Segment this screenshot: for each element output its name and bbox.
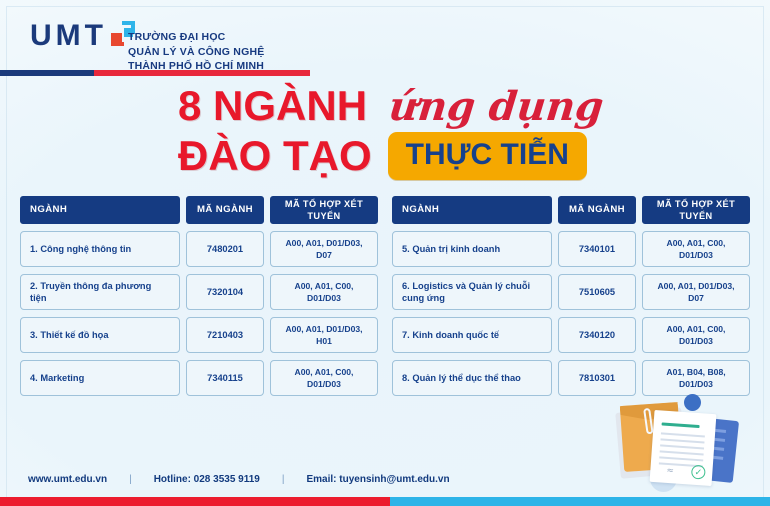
blue-dot-icon [684,394,701,411]
headline-block: 8 NGÀNH ứng dụng ĐÀO TẠO THỰC TIỄN [0,84,770,184]
table-header-row-right: NGÀNH MÃ NGÀNH MÃ TỔ HỢP XÉT TUYỂN [392,196,750,224]
footer-bar-red [0,497,390,506]
major-name: 2. Truyền thông đa phương tiện [20,274,180,310]
major-code: 7810301 [558,360,636,396]
university-line-2: QUẢN LÝ VÀ CÔNG NGHỆ [128,45,264,60]
major-code: 7480201 [186,231,264,267]
major-name: 5. Quản trị kinh doanh [392,231,552,267]
logo: UMT [30,20,135,52]
major-combos: A00, A01, C00, D01/D03 [642,231,750,267]
table-row: 8. Quản lý thể dục thể thao 7810301 A01,… [392,360,750,396]
major-name: 4. Marketing [20,360,180,396]
column-header-nganh: NGÀNH [392,196,552,224]
column-header-ma-to-hop: MÃ TỔ HỢP XÉT TUYỂN [270,196,378,224]
headline-main-2: ĐÀO TẠO [178,134,372,178]
major-code: 7340115 [186,360,264,396]
headline-badge: THỰC TIỄN [388,132,587,180]
major-code: 7320104 [186,274,264,310]
majors-tables: NGÀNH MÃ NGÀNH MÃ TỔ HỢP XÉT TUYỂN 1. Cô… [20,196,750,403]
table-row: 6. Logistics và Quản lý chuỗi cung ứng 7… [392,274,750,310]
major-name: 3. Thiết kế đồ họa [20,317,180,353]
footer-website[interactable]: www.umt.edu.vn [28,474,107,485]
brand-header: UMT TRƯỜNG ĐẠI HỌC QUẢN LÝ VÀ CÔNG NGHỆ … [0,14,400,76]
major-combos: A00, A01, C00, D01/D03 [270,360,378,396]
majors-table-left: NGÀNH MÃ NGÀNH MÃ TỔ HỢP XÉT TUYỂN 1. Cô… [20,196,378,403]
footer-hotline[interactable]: Hotline: 028 3535 9119 [154,474,260,485]
table-row: 7. Kinh doanh quốc tế 7340120 A00, A01, … [392,317,750,353]
footer-separator: | [282,474,285,485]
headline-main-1: 8 NGÀNH [178,84,367,128]
logo-underline-rule [0,70,310,76]
major-code: 7210403 [186,317,264,353]
university-line-1: TRƯỜNG ĐẠI HỌC [128,30,264,45]
major-name: 7. Kinh doanh quốc tế [392,317,552,353]
footer-color-bar [0,497,770,506]
column-header-nganh: NGÀNH [20,196,180,224]
clip-icon [643,408,654,435]
column-header-ma-nganh: MÃ NGÀNH [186,196,264,224]
footer-contact-bar: www.umt.edu.vn | Hotline: 028 3535 9119 … [0,468,770,490]
column-header-ma-nganh: MÃ NGÀNH [558,196,636,224]
major-combos: A00, A01, C00, D01/D03 [270,274,378,310]
major-combos: A00, A01, C00, D01/D03 [642,317,750,353]
major-combos: A00, A01, D01/D03, D07 [270,231,378,267]
poster-canvas: UMT TRƯỜNG ĐẠI HỌC QUẢN LÝ VÀ CÔNG NGHỆ … [0,0,770,506]
logo-wordmark: UMT [30,20,107,52]
university-name: TRƯỜNG ĐẠI HỌC QUẢN LÝ VÀ CÔNG NGHỆ THÀN… [128,30,264,74]
footer-email[interactable]: Email: tuyensinh@umt.edu.vn [306,474,449,485]
footer-separator: | [129,474,132,485]
footer-bar-cyan [390,497,770,506]
major-code: 7510605 [558,274,636,310]
table-row: 1. Công nghệ thông tin 7480201 A00, A01,… [20,231,378,267]
major-combos: A01, B04, B08, D01/D03 [642,360,750,396]
table-row: 3. Thiết kế đồ họa 7210403 A00, A01, D01… [20,317,378,353]
major-name: 8. Quản lý thể dục thể thao [392,360,552,396]
table-row: 4. Marketing 7340115 A00, A01, C00, D01/… [20,360,378,396]
table-row: 5. Quản trị kinh doanh 7340101 A00, A01,… [392,231,750,267]
major-name: 1. Công nghệ thông tin [20,231,180,267]
major-code: 7340120 [558,317,636,353]
major-combos: A00, A01, D01/D03, H01 [270,317,378,353]
major-name: 6. Logistics và Quản lý chuỗi cung ứng [392,274,552,310]
headline-script: ứng dụng [387,86,606,128]
headline-row-2: ĐÀO TẠO THỰC TIỄN [178,132,587,180]
headline-row-1: 8 NGÀNH ứng dụng [178,84,603,128]
major-code: 7340101 [558,231,636,267]
column-header-ma-to-hop: MÃ TỔ HỢP XÉT TUYỂN [642,196,750,224]
major-combos: A00, A01, D01/D03, D07 [642,274,750,310]
table-row: 2. Truyền thông đa phương tiện 7320104 A… [20,274,378,310]
majors-table-right: NGÀNH MÃ NGÀNH MÃ TỔ HỢP XÉT TUYỂN 5. Qu… [392,196,750,403]
table-header-row-left: NGÀNH MÃ NGÀNH MÃ TỔ HỢP XÉT TUYỂN [20,196,378,224]
